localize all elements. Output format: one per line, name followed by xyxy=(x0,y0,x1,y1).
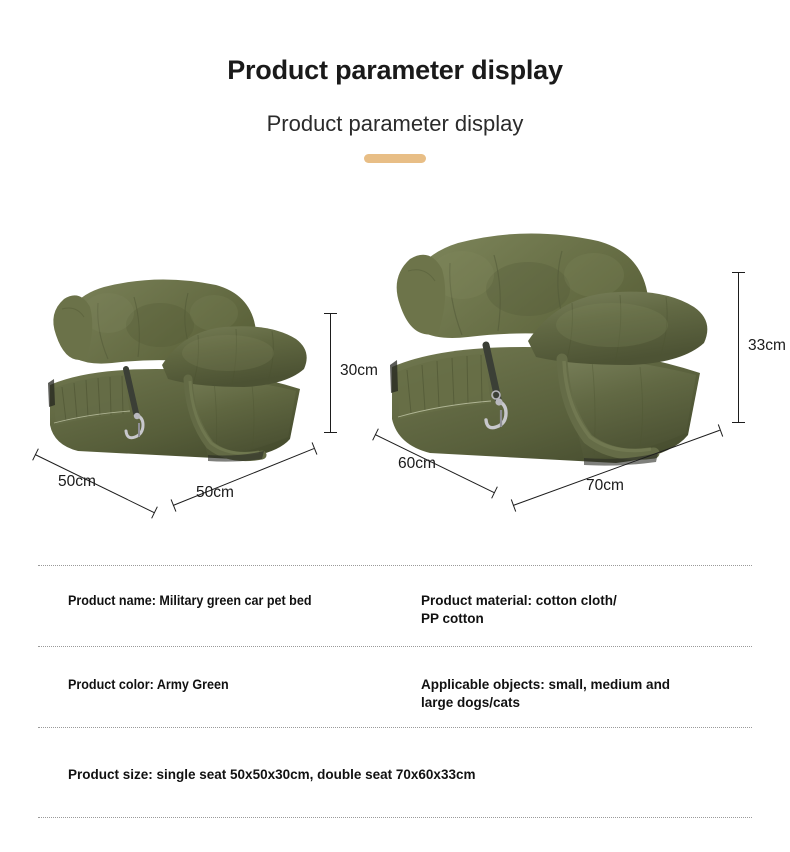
page-subtitle: Product parameter display xyxy=(0,112,790,136)
dimension-label-depth-single: 50cm xyxy=(58,473,96,491)
accent-divider-pill xyxy=(364,154,426,163)
spec-applicable-objects: Applicable objects: small, medium and la… xyxy=(421,676,751,712)
single-seat-pet-bed-image xyxy=(38,273,318,463)
table-divider xyxy=(38,727,752,728)
spec-product-material: Product material: cotton cloth/ PP cotto… xyxy=(421,592,751,628)
spec-product-name: Product name: Military green car pet bed xyxy=(68,592,389,610)
single-seat-pet-bed-illustration xyxy=(38,273,318,463)
spec-product-size: Product size: single seat 50x50x30cm, do… xyxy=(68,766,758,784)
page-title: Product parameter display xyxy=(0,56,790,86)
dimension-label-height-double: 33cm xyxy=(748,337,786,355)
table-divider xyxy=(38,565,752,566)
dimension-label-height-single: 30cm xyxy=(340,362,378,380)
double-seat-pet-bed-illustration xyxy=(378,227,718,467)
page-header: Product parameter display Product parame… xyxy=(0,0,790,163)
table-divider xyxy=(38,646,752,647)
spec-product-color: Product color: Army Green xyxy=(68,676,389,694)
product-parameter-page: Product parameter display Product parame… xyxy=(0,0,790,852)
dimension-label-depth-double: 60cm xyxy=(398,455,436,473)
product-illustration-stage: 30cm 50cm 50cm xyxy=(0,205,790,535)
dimension-label-width-single: 50cm xyxy=(196,484,234,502)
double-seat-pet-bed-image xyxy=(378,227,718,467)
table-divider xyxy=(38,817,752,818)
dimension-label-width-double: 70cm xyxy=(586,477,624,495)
